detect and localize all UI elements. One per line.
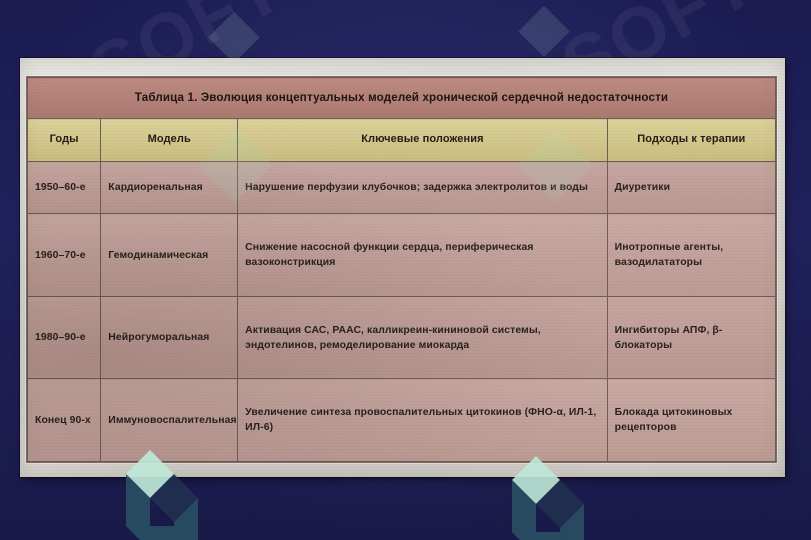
scanned-page: Таблица 1. Эволюция концептуальных модел… bbox=[20, 58, 785, 477]
screenshot-root: SOFT SOFT SOFT Таблица 1. Эволюция конце… bbox=[0, 0, 811, 540]
cell-years: 1950–60-е bbox=[28, 162, 101, 214]
table-container: Таблица 1. Эволюция концептуальных модел… bbox=[26, 76, 777, 463]
cell-key-points: Увеличение синтеза провоспалительных цит… bbox=[238, 379, 608, 462]
cell-key-points: Активация САС, РААС, калликреин-кининово… bbox=[238, 296, 608, 379]
cell-years: Конец 90-х bbox=[28, 379, 101, 462]
cell-years: 1960–70-е bbox=[28, 214, 101, 297]
evolution-models-table: Таблица 1. Эволюция концептуальных модел… bbox=[27, 77, 776, 462]
cell-therapy: Ингибиторы АПФ, β-блокаторы bbox=[607, 296, 775, 379]
cell-key-points: Снижение насосной функции сердца, перифе… bbox=[238, 214, 608, 297]
cell-therapy: Диуретики bbox=[607, 162, 775, 214]
table-row: 1950–60-е Кардиоренальная Нарушение перф… bbox=[28, 162, 776, 214]
cell-model: Кардиоренальная bbox=[101, 162, 238, 214]
column-header-years: Годы bbox=[28, 119, 101, 162]
cell-key-points: Нарушение перфузии клубочков; задержка э… bbox=[238, 162, 608, 214]
table-caption-row: Таблица 1. Эволюция концептуальных модел… bbox=[28, 78, 776, 119]
table-row: Конец 90-х Иммуновоспалительная Увеличен… bbox=[28, 379, 776, 462]
cell-therapy: Блокада цитокиновых рецепторов bbox=[607, 379, 775, 462]
cell-model: Иммуновоспалительная bbox=[101, 379, 238, 462]
cell-years: 1980–90-е bbox=[28, 296, 101, 379]
table-caption: Таблица 1. Эволюция концептуальных модел… bbox=[28, 78, 776, 119]
column-header-key-points: Ключевые положения bbox=[238, 119, 608, 162]
cell-therapy: Инотропные агенты, вазодилататоры bbox=[607, 214, 775, 297]
column-header-therapy: Подходы к терапии bbox=[607, 119, 775, 162]
cell-model: Гемодинамическая bbox=[101, 214, 238, 297]
table-row: 1980–90-е Нейрогуморальная Активация САС… bbox=[28, 296, 776, 379]
column-header-model: Модель bbox=[101, 119, 238, 162]
cell-model: Нейрогуморальная bbox=[101, 296, 238, 379]
table-header-row: Годы Модель Ключевые положения Подходы к… bbox=[28, 119, 776, 162]
table-row: 1960–70-е Гемодинамическая Снижение насо… bbox=[28, 214, 776, 297]
